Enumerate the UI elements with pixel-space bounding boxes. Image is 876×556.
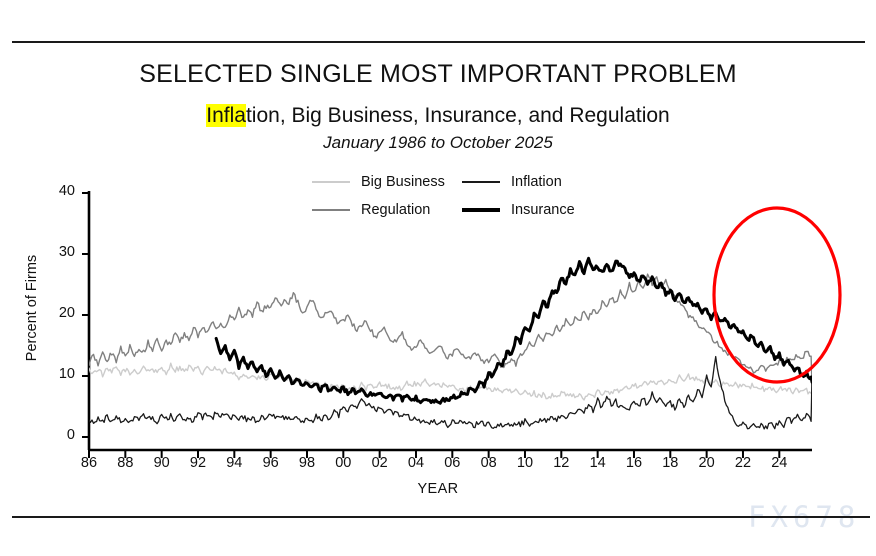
bottom-divider-rule <box>12 516 870 518</box>
series-line-regulation <box>89 274 812 385</box>
chart-plot-area <box>0 0 876 556</box>
series-line-big-business <box>89 363 812 400</box>
series-line-insurance <box>216 258 812 403</box>
